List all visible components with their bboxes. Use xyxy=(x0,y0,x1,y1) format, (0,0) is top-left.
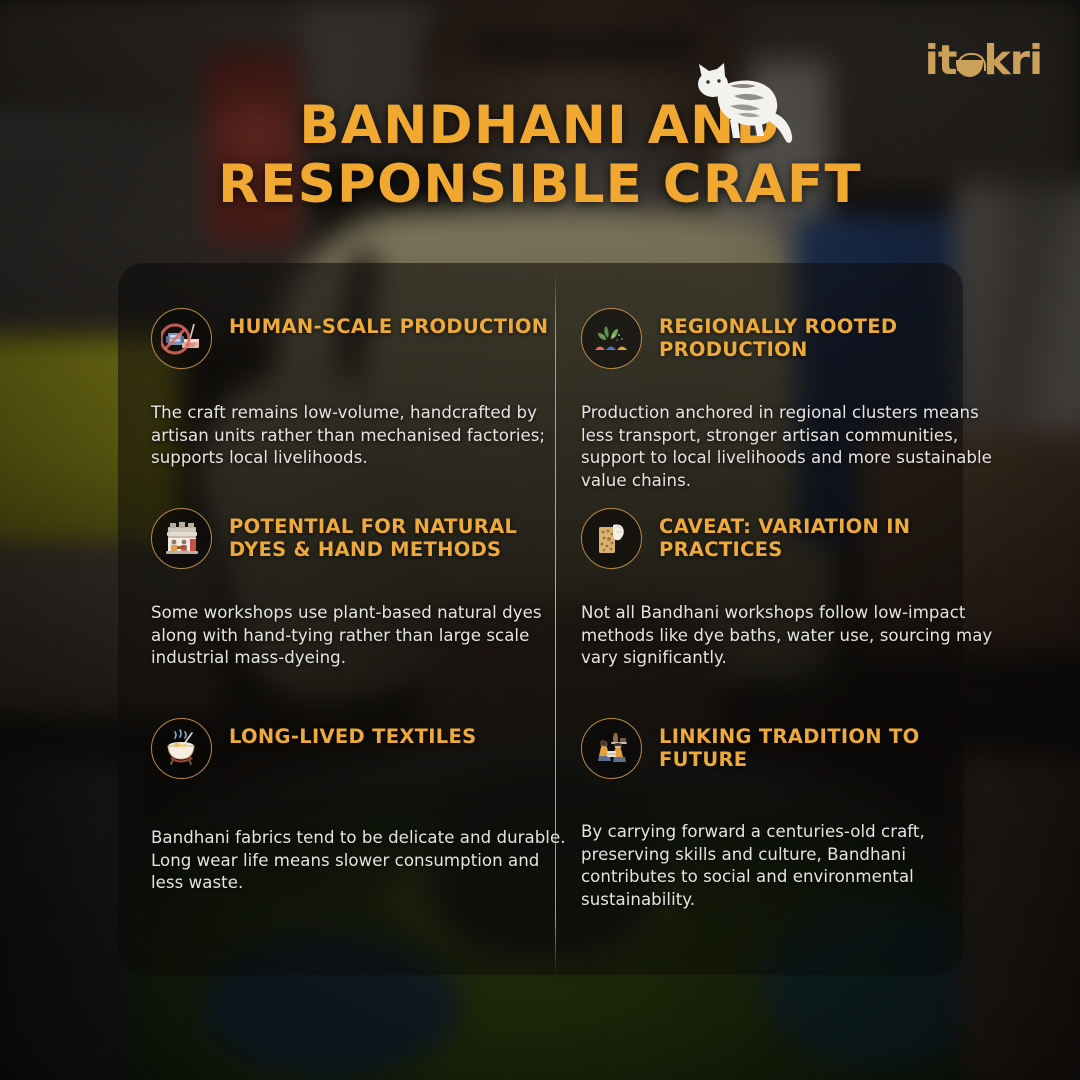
content-grid: HUMAN-SCALE PRODUCTION The craft remains… xyxy=(118,263,963,975)
white-cat-illustration xyxy=(686,52,802,152)
block-body: The craft remains low-volume, handcrafte… xyxy=(151,402,571,470)
block-title: REGIONALLY ROOTED PRODUCTION xyxy=(659,308,989,361)
block-body: Some workshops use plant-based natural d… xyxy=(151,602,571,670)
block-human-scale-production: HUMAN-SCALE PRODUCTION The craft remains… xyxy=(151,308,571,470)
two-artisans-icon xyxy=(581,718,642,779)
block-header: LONG-LIVED TEXTILES xyxy=(151,718,571,779)
itokri-logo[interactable]: itkri xyxy=(925,40,1042,81)
block-header: REGIONALLY ROOTED PRODUCTION xyxy=(581,308,996,369)
hand-holding-fabric-icon xyxy=(581,508,642,569)
block-header: POTENTIAL FOR NATURAL DYES & HAND METHOD… xyxy=(151,508,571,569)
block-regionally-rooted-production: REGIONALLY ROOTED PRODUCTION Production … xyxy=(581,308,996,492)
page-title: BANDHANI AND RESPONSIBLE CRAFT xyxy=(0,96,1080,215)
block-body: Not all Bandhani workshops follow low-im… xyxy=(581,602,996,670)
block-long-lived-textiles: LONG-LIVED TEXTILES Bandhani fabrics ten… xyxy=(151,718,571,895)
logo-text-after: kri xyxy=(983,36,1042,84)
block-title: LINKING TRADITION TO FUTURE xyxy=(659,718,989,771)
infographic-poster: itkri BANDHANI AND RESPONSIBLE CRAFT xyxy=(0,0,1080,1080)
basket-icon xyxy=(956,50,983,77)
block-potential-for-natural-dyes: POTENTIAL FOR NATURAL DYES & HAND METHOD… xyxy=(151,508,571,670)
block-linking-tradition-to-future: LINKING TRADITION TO FUTURE By carrying … xyxy=(581,718,996,911)
block-body: By carrying forward a centuries-old craf… xyxy=(581,821,996,911)
no-factory-icon xyxy=(151,308,212,369)
block-caveat-variation-in-practices: CAVEAT: VARIATION IN PRACTICES Not all B… xyxy=(581,508,996,670)
block-header: CAVEAT: VARIATION IN PRACTICES xyxy=(581,508,996,569)
block-body: Production anchored in regional clusters… xyxy=(581,402,996,492)
block-title: LONG-LIVED TEXTILES xyxy=(229,718,477,748)
steaming-dye-pot-icon xyxy=(151,718,212,779)
block-header: LINKING TRADITION TO FUTURE xyxy=(581,718,996,779)
block-title: HUMAN-SCALE PRODUCTION xyxy=(229,308,548,338)
artisan-workshop-icon xyxy=(151,508,212,569)
block-title: CAVEAT: VARIATION IN PRACTICES xyxy=(659,508,989,561)
logo-text-before: it xyxy=(925,36,957,84)
block-header: HUMAN-SCALE PRODUCTION xyxy=(151,308,571,369)
block-title: POTENTIAL FOR NATURAL DYES & HAND METHOD… xyxy=(229,508,559,561)
natural-dye-plants-icon xyxy=(581,308,642,369)
block-body: Bandhani fabrics tend to be delicate and… xyxy=(151,827,571,895)
title-line-2: RESPONSIBLE CRAFT xyxy=(0,155,1080,214)
